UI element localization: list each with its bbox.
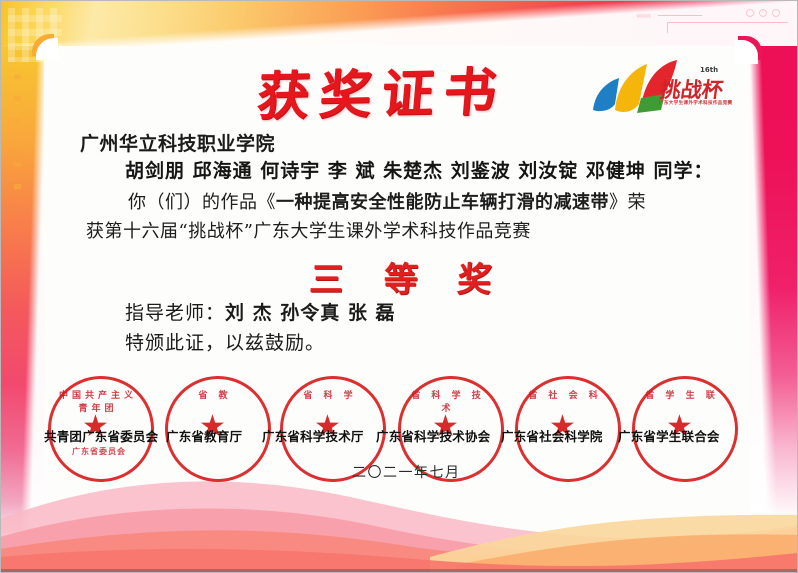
seal-bottom-text: 广东省委员会 bbox=[60, 446, 138, 457]
seal-label: 广东省教育厅 bbox=[166, 426, 242, 445]
seal-label: 广东省科学技术厅 bbox=[262, 426, 364, 445]
seal-label: 广东省科学技术协会 bbox=[376, 426, 490, 445]
logo-edition-superscript: 16th bbox=[700, 66, 718, 74]
body-prefix: 你（们）的作品《 bbox=[128, 188, 276, 214]
seal-label: 广东省学生联合会 bbox=[618, 426, 720, 445]
advisors-label: 指导老师： bbox=[125, 298, 225, 325]
page-title: 获奖证书 bbox=[255, 49, 510, 129]
logo-caption: 广东大学生课外学术科技作品竞赛 bbox=[659, 100, 732, 106]
advisors-names: 刘 杰 孙令真 张 磊 bbox=[225, 298, 395, 325]
body-line-1: 你（们）的作品《一种提高安全性能防止车辆打滑的减速带》荣 bbox=[128, 188, 646, 214]
closing-statement: 特颁此证，以兹鼓励。 bbox=[125, 328, 325, 355]
body-suffix: 》荣 bbox=[609, 188, 646, 214]
issue-date: 二〇二一年七月 bbox=[352, 462, 461, 482]
seal-label: 广东省社会科学院 bbox=[501, 426, 603, 445]
award-level: 三 等 奖 bbox=[308, 252, 508, 301]
certificate-content: 获奖证书 16th 挑战杯 广东大学生课外学术科技作品竞赛 广州华立科技职业学院… bbox=[0, 0, 798, 573]
school-name: 广州华立科技职业学院 bbox=[80, 129, 275, 156]
certificate-page: ‹‹‹‹‹‹ 获奖证书 16th 挑战杯 广东大学生课外学术科技作品竞赛 bbox=[0, 0, 798, 573]
student-names: 胡剑朋 邱海通 何诗宇 李 斌 朱楚杰 刘鉴波 刘汝锭 邓健坤 同学： bbox=[125, 156, 714, 183]
body-line-2: 获第十六届“挑战杯”广东大学生课外学术科技作品竞赛 bbox=[86, 217, 531, 243]
work-title: 一种提高安全性能防止车辆打滑的减速带 bbox=[276, 188, 609, 214]
seal-label: 共青团广东省委员会 bbox=[44, 426, 158, 445]
advisors-line: 指导老师：刘 杰 孙令真 张 磊 bbox=[125, 298, 395, 325]
